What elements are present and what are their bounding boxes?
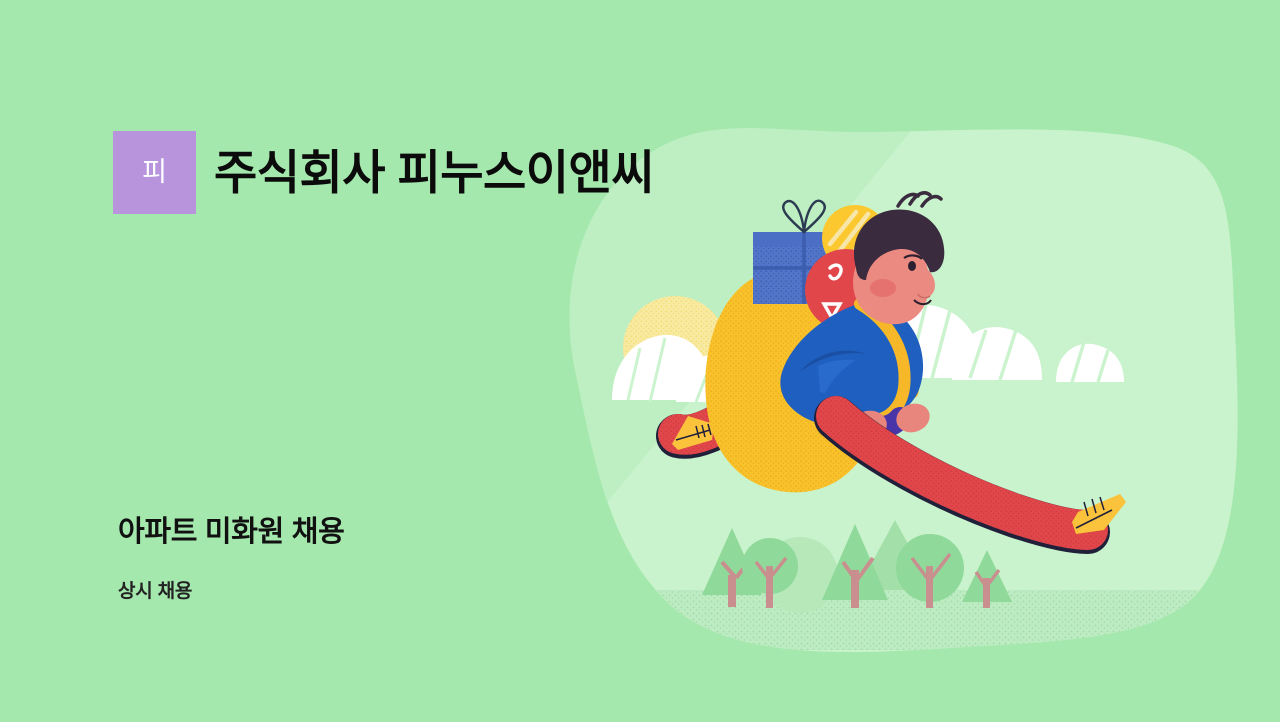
runner-arm [836, 368, 934, 445]
job-posting-banner: 피 주식회사 피누스이앤씨 아파트 미화원 채용 상시 채용 [0, 0, 1280, 722]
company-logo-square: 피 [113, 131, 196, 214]
front-shoe [1072, 494, 1126, 534]
blob-background [560, 120, 1238, 652]
sun [623, 296, 727, 400]
gift-sack [705, 272, 879, 492]
job-subtitle: 상시 채용 [118, 576, 192, 603]
right-clouds [862, 305, 1124, 382]
company-name: 주식회사 피누스이앤씨 [214, 149, 654, 196]
company-header: 피 주식회사 피누스이앤씨 [113, 130, 654, 214]
red-patterned-ball [805, 249, 887, 331]
company-logo-letter: 피 [142, 159, 167, 186]
left-clouds [612, 335, 790, 404]
trees [702, 520, 1012, 613]
striped-roll [866, 257, 912, 319]
runner-figure [672, 193, 1126, 534]
sack-strap-back [868, 300, 914, 392]
ground-strip [560, 590, 1200, 650]
left-cloud-stripes [628, 338, 756, 404]
job-title: 아파트 미화원 채용 [118, 508, 345, 550]
runner-back-leg [672, 376, 778, 450]
runner-front-leg [836, 416, 1126, 534]
sack-strap-front [860, 304, 905, 420]
right-cloud-stripes [886, 304, 1108, 382]
runner-torso [780, 303, 923, 428]
illustration-running-person [500, 0, 1280, 722]
runner-head [853, 193, 944, 324]
back-shoe [672, 416, 714, 450]
blue-gift-box [753, 201, 855, 304]
yellow-striped-ball [822, 205, 888, 271]
